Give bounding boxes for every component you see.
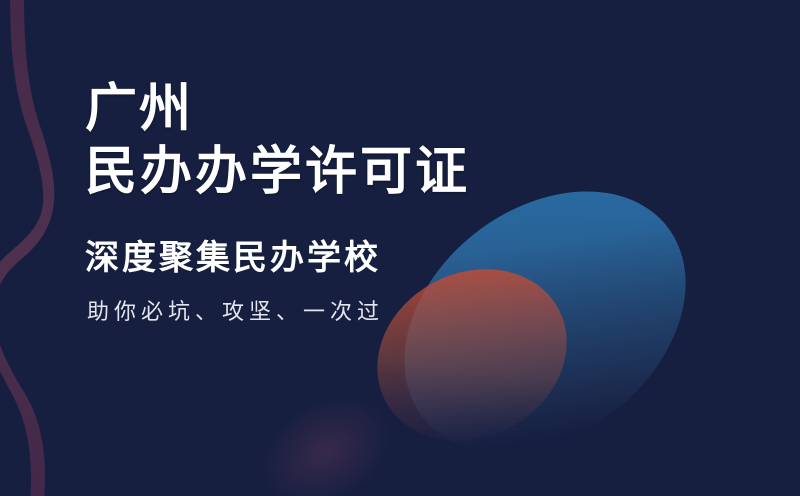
left-wave-ribbon — [0, 0, 54, 496]
promo-banner: 广州 民办办学许可证 深度聚集民办学校 助你必坑、攻坚、一次过 — [0, 0, 800, 496]
headline-city: 广州 — [85, 78, 725, 140]
subtitle-light: 助你必坑、攻坚、一次过 — [87, 296, 725, 328]
purple-blob — [243, 375, 409, 496]
subtitle-strong: 深度聚集民办学校 — [85, 236, 725, 280]
banner-text-block: 广州 民办办学许可证 深度聚集民办学校 助你必坑、攻坚、一次过 — [85, 78, 725, 328]
headline-main: 民办办学许可证 — [85, 140, 725, 204]
